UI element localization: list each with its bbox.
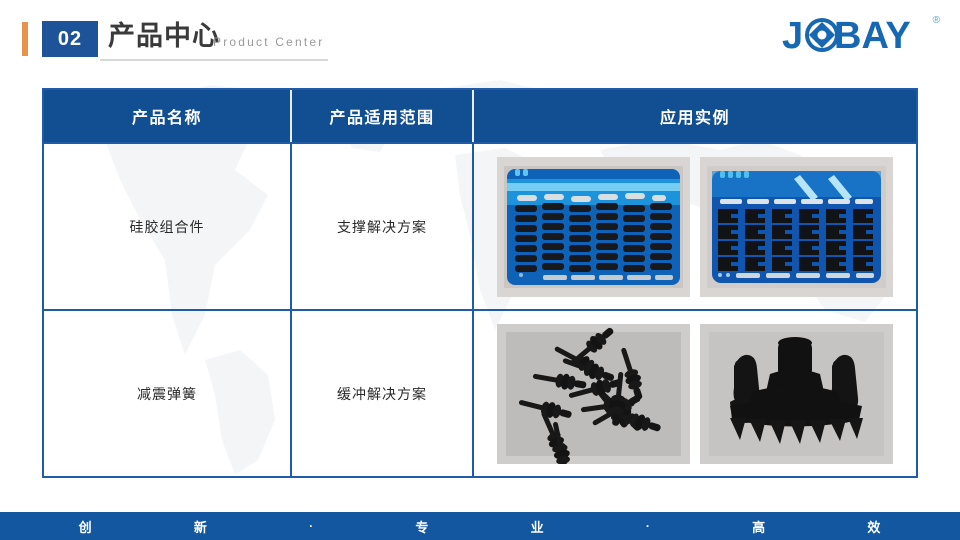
svg-text:BAY: BAY (834, 15, 911, 57)
svg-text:J: J (782, 15, 803, 57)
table-header-row: 产品名称 产品适用范围 应用实例 (44, 90, 916, 142)
product-name-text: 减震弹簧 (137, 384, 197, 404)
table-row: 减震弹簧 缓冲解决方案 (44, 309, 916, 476)
product-photo-blue-tray-strips (497, 157, 690, 297)
footer-separator-dot: · (309, 519, 314, 533)
cell-product-scope: 支撑解决方案 (290, 144, 472, 309)
cell-application-examples (472, 311, 916, 476)
footer-separator-dot: · (646, 519, 651, 533)
page-title: 产品中心 (108, 19, 220, 53)
column-header-application: 应用实例 (472, 90, 916, 142)
slide-footer: 创 新 · 专 业 · 高 效 (0, 512, 960, 540)
product-scope-text: 支撑解决方案 (337, 217, 427, 237)
orange-accent-bar (22, 22, 28, 56)
slide-header: 02 产品中心 Product Center J BAY ® (0, 0, 960, 78)
title-underline (100, 59, 328, 61)
footer-item: 效 (867, 517, 881, 536)
product-photo-rubber-bellows (700, 324, 893, 464)
product-photo-damper-pins (497, 324, 690, 464)
cell-product-scope: 缓冲解决方案 (290, 311, 472, 476)
jobay-logo: J BAY ® (782, 14, 940, 58)
column-header-product-name: 产品名称 (44, 90, 290, 142)
cell-product-name: 硅胶组合件 (44, 144, 290, 309)
page-subtitle: Product Center (213, 34, 325, 50)
registered-trademark-icon: ® (933, 16, 940, 26)
cell-product-name: 减震弹簧 (44, 311, 290, 476)
product-photo-blue-tray-clips (700, 157, 893, 297)
footer-item: 新 (194, 517, 208, 536)
product-table: 产品名称 产品适用范围 应用实例 硅胶组合件 支撑解决方案 (42, 88, 918, 478)
column-header-product-scope: 产品适用范围 (290, 90, 472, 142)
footer-item: 专 (415, 517, 429, 536)
footer-item: 高 (752, 517, 766, 536)
product-name-text: 硅胶组合件 (130, 217, 205, 237)
table-row: 硅胶组合件 支撑解决方案 (44, 142, 916, 309)
footer-item: 业 (531, 517, 545, 536)
jobay-logo-mark: J BAY (782, 14, 932, 58)
cell-application-examples (472, 144, 916, 309)
footer-item: 创 (79, 517, 93, 536)
product-scope-text: 缓冲解决方案 (337, 384, 427, 404)
section-number-badge: 02 (42, 21, 98, 57)
